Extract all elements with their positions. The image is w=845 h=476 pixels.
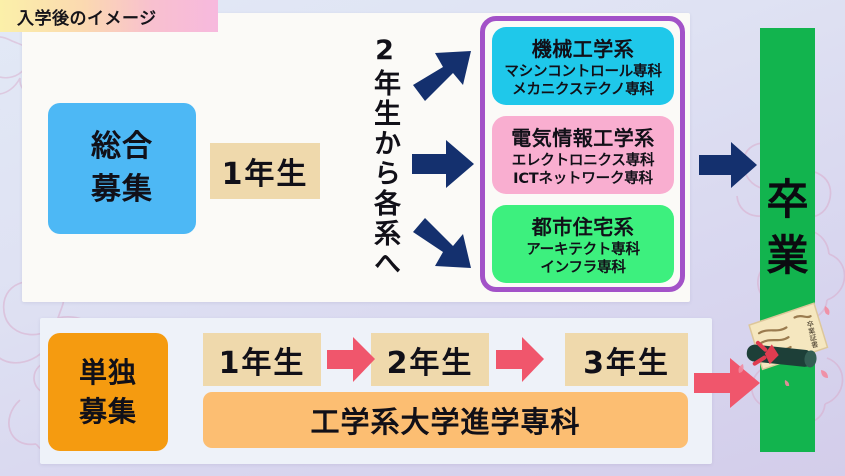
arrow-year1-to-year2-icon: [327, 337, 375, 382]
comprehensive-label-line1: 総合: [91, 130, 153, 164]
vertical-note-second-year: 2年生から各系へ: [356, 22, 398, 292]
department-box-mechanical[interactable]: 機械工学系 マシンコントロール専科 メカニクステクノ専科: [492, 27, 674, 105]
title-banner: 入学後のイメージ: [0, 0, 218, 32]
grade-chip-year3-bottom: 3年生: [565, 333, 688, 386]
grade-chip-year2-bottom: 2年生: [371, 333, 489, 386]
department-name-mechanical: 機械工学系: [532, 33, 635, 62]
course-urban-1: アーキテクト専科: [526, 242, 640, 260]
graduation-char-2: 業: [766, 234, 808, 278]
arrow-year2-to-year3-icon: [496, 337, 544, 382]
department-name-electrical: 電気情報工学系: [511, 122, 655, 151]
arrow-to-urban-icon: [409, 216, 475, 276]
arrow-to-electrical-icon: [412, 140, 474, 188]
course-electrical-2: ICTネットワーク専科: [513, 171, 653, 189]
graduation-column: 卒 業: [760, 28, 815, 452]
page-title: 入学後のイメージ: [17, 4, 157, 29]
graduation-char-1: 卒: [766, 178, 808, 222]
course-urban-2: インフラ専科: [540, 260, 625, 278]
grade-chip-year1-bottom: 1年生: [203, 333, 321, 386]
comprehensive-recruitment-box[interactable]: 総合 募集: [48, 103, 196, 234]
standalone-label-line2: 募集: [79, 396, 137, 427]
university-prep-course-band: 工学系大学進学専科: [203, 392, 688, 448]
course-mechanical-1: マシンコントロール専科: [504, 64, 661, 82]
course-mechanical-2: メカニクステクノ専科: [512, 82, 654, 100]
standalone-recruitment-box[interactable]: 単独 募集: [48, 333, 168, 451]
arrow-to-graduation-top-icon: [699, 142, 757, 188]
diagram-canvas: 入学後のイメージ 総合 募集 1年生 2年生から各系へ 機械工学系 マシンコント…: [0, 0, 845, 476]
department-box-urban[interactable]: 都市住宅系 アーキテクト専科 インフラ専科: [492, 205, 674, 283]
department-name-urban: 都市住宅系: [532, 211, 635, 240]
diploma-certificate-icon: 卒業証書: [737, 294, 833, 386]
grade-chip-year1-top: 1年生: [210, 143, 320, 199]
standalone-label-line1: 単独: [79, 357, 137, 388]
course-electrical-1: エレクトロニクス専科: [512, 153, 655, 171]
arrow-to-mechanical-icon: [409, 45, 475, 105]
comprehensive-label-line2: 募集: [91, 173, 153, 207]
department-box-electrical[interactable]: 電気情報工学系 エレクトロニクス専科 ICTネットワーク専科: [492, 116, 674, 194]
